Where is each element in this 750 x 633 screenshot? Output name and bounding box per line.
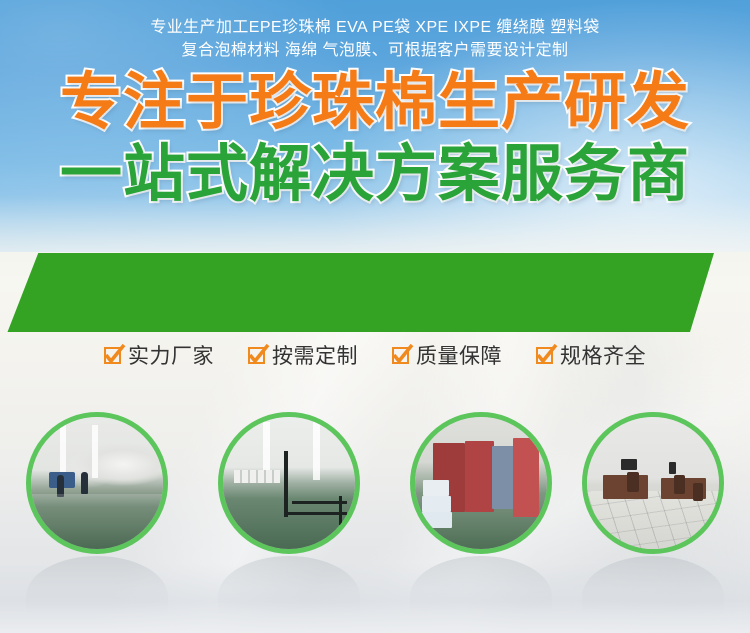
photo-factory-floor-rack[interactable] [218, 412, 360, 554]
green-banner-line-2: 复合泡棉材料 海绵 气泡膜、可根据客户需要设计定制 [182, 42, 569, 60]
photo-office-interior[interactable] [582, 412, 724, 554]
headline-line-secondary: 一站式解决方案服务商 [0, 144, 750, 206]
photo-scene [31, 417, 163, 549]
bottom-sheen-overlay [0, 563, 750, 633]
feature-item-strength-manufacturer: 实力厂家 [104, 340, 214, 370]
promotional-banner: 专注于珍珠棉生产研发 一站式解决方案服务商 专业生产加工EPE珍珠棉 EVA P… [0, 0, 750, 633]
feature-label: 规格齐全 [560, 340, 646, 370]
photo-scene [587, 417, 719, 549]
photo-factory-foam-rolls[interactable] [26, 412, 168, 554]
green-banner-line-1: 专业生产加工EPE珍珠棉 EVA PE袋 XPE IXPE 缠绕膜 塑料袋 [150, 19, 599, 37]
checkbox-checked-icon [248, 347, 265, 364]
feature-item-custom-on-demand: 按需定制 [248, 340, 358, 370]
feature-label: 实力厂家 [128, 340, 214, 370]
feature-label: 质量保障 [416, 340, 502, 370]
feature-item-quality-assurance: 质量保障 [392, 340, 502, 370]
feature-list: 实力厂家 按需定制 质量保障 规格齐全 [0, 340, 750, 370]
checkbox-checked-icon [104, 347, 121, 364]
photo-scene [415, 417, 547, 549]
photo-scene [223, 417, 355, 549]
feature-label: 按需定制 [272, 340, 358, 370]
photo-packaged-goods-stacks[interactable] [410, 412, 552, 554]
checkbox-checked-icon [392, 347, 409, 364]
feature-item-full-specifications: 规格齐全 [536, 340, 646, 370]
green-subtitle-banner-text: 专业生产加工EPE珍珠棉 EVA PE袋 XPE IXPE 缠绕膜 塑料袋 复合… [0, 0, 750, 79]
checkbox-checked-icon [536, 347, 553, 364]
headline-block: 专注于珍珠棉生产研发 一站式解决方案服务商 [0, 72, 750, 206]
headline-line-primary: 专注于珍珠棉生产研发 [0, 72, 750, 134]
green-subtitle-banner [0, 253, 750, 332]
photo-gallery [0, 412, 750, 562]
